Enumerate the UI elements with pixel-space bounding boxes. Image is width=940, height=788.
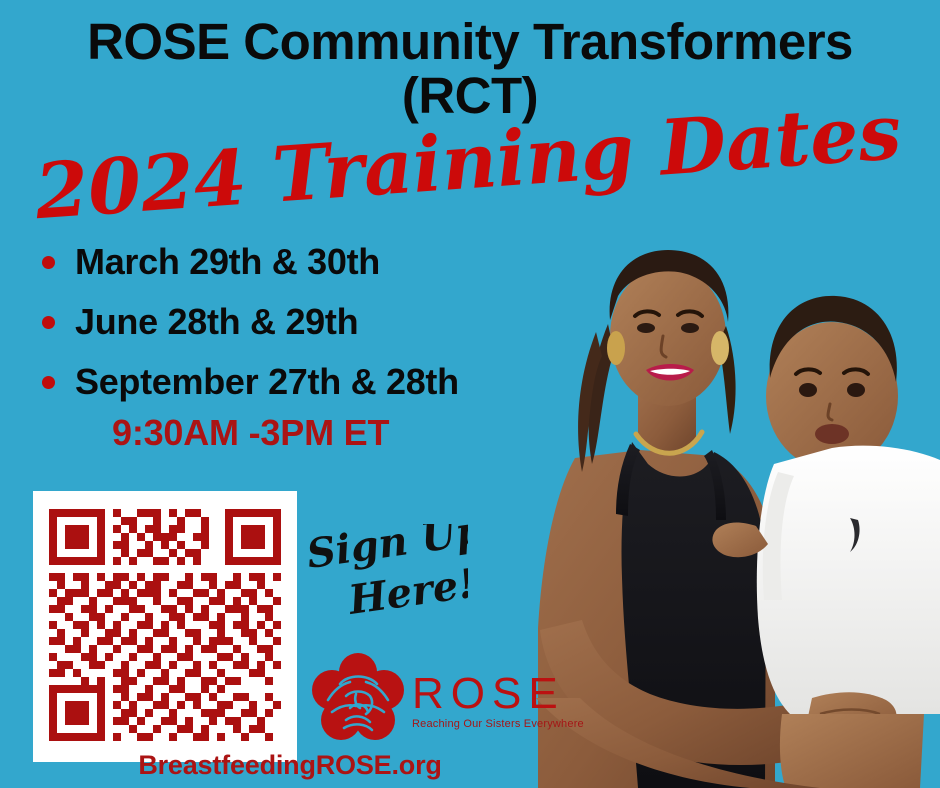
list-item-label: June 28th & 29th: [75, 301, 358, 343]
list-item-label: March 29th & 30th: [75, 241, 380, 283]
page-title: ROSE Community Transformers (RCT): [0, 16, 940, 122]
signup-callout: Sign Up Here!: [303, 524, 468, 624]
rose-tagline: Reaching Our Sisters Everywhere: [412, 718, 584, 730]
rose-wordmark: ROSE: [412, 672, 584, 716]
bullet-icon: [42, 376, 55, 389]
list-item-label: September 27th & 28th: [75, 361, 459, 403]
title-line-acronym: (RCT): [0, 70, 940, 122]
title-line-primary: ROSE Community Transformers: [0, 16, 940, 68]
list-item: June 28th & 29th: [30, 292, 550, 352]
rose-flower-icon: [310, 650, 406, 746]
training-dates-list: March 29th & 30th June 28th & 29th Septe…: [30, 232, 550, 412]
qr-code-icon[interactable]: [49, 509, 281, 741]
bullet-icon: [42, 316, 55, 329]
bullet-icon: [42, 256, 55, 269]
list-item: March 29th & 30th: [30, 232, 550, 292]
script-headline: 2024 Training Dates: [0, 110, 940, 225]
rose-logo[interactable]: ROSE Reaching Our Sisters Everywhere: [310, 648, 575, 748]
website-url[interactable]: BreastfeedingROSE.org: [0, 750, 580, 781]
flyer-canvas: ROSE Community Transformers (RCT) 2024 T…: [0, 0, 940, 788]
list-item: September 27th & 28th: [30, 352, 550, 412]
qr-code-panel[interactable]: [33, 491, 297, 762]
session-time: 9:30AM -3PM ET: [112, 412, 389, 454]
rose-wordmark-block: ROSE Reaching Our Sisters Everywhere: [412, 672, 584, 730]
